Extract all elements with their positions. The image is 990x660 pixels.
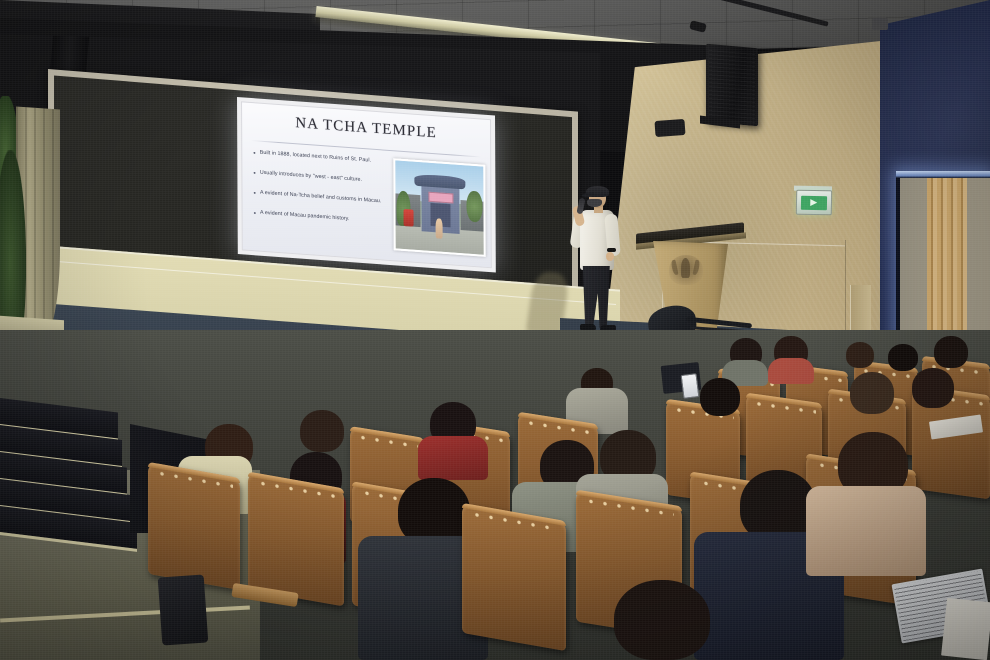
bullet-text: Usually introduces by "west - east" cult… [260,169,362,187]
presenter-right-hand [606,252,614,261]
table-row[interactable] [148,462,240,590]
photo-tree-right [467,190,483,223]
table-row[interactable] [462,503,566,651]
audience-head [700,378,740,416]
projected-slide: NA TCHA TEMPLE • Built in 1888, located … [237,97,496,273]
foliage-lower [0,150,26,340]
bullet-marker-icon: • [253,168,256,179]
list-item: • A evident of Na-Tcha belief and custom… [253,188,393,209]
audience-head [888,344,918,371]
phone-device[interactable] [681,373,700,399]
slide-bullet-list: • Built in 1888, located next to Ruins o… [253,148,393,238]
audience-head [300,410,344,452]
speaker-grille [709,47,755,123]
presenter-wristwatch [607,248,616,252]
speaker-wall-mount [654,119,685,137]
photo-temple-plaque [429,192,454,204]
exit-arrow-icon: ▶ [810,198,818,207]
list-item: • Usually introduces by "west - east" cu… [253,168,393,189]
audience-head [912,368,954,408]
list-item: • A evident of Macau pandemic history. [254,208,394,229]
audience-body [768,358,814,384]
lectern-emblem-figure [681,258,690,278]
table-row[interactable] [248,472,344,607]
floor-bag [158,574,209,645]
presenter-face-mask [587,199,602,207]
lecture-hall-photo: ▶ NA TCHA TEMPLE • Built in 1888, locate… [0,0,990,660]
audience-head [850,372,894,414]
audience-head [614,580,710,660]
security-camera-icon [872,18,888,30]
niche-panel [900,178,990,333]
bullet-text: A evident of Macau pandemic history. [260,209,350,226]
ceiling-speaker [706,44,758,127]
bullet-marker-icon: • [253,188,256,199]
audience-head [934,336,968,368]
backlit-wall-niche [896,171,990,340]
exit-sign-panel: ▶ [801,195,827,209]
papers [941,598,990,660]
photo-red-object [403,208,414,226]
bullet-text: A evident of Na-Tcha belief and customs … [260,189,381,209]
photo-visitor [435,219,442,239]
niche-wood-slats [927,178,967,333]
audience-head [846,342,874,368]
slide-photo-temple [393,158,485,257]
exit-sign: ▶ [796,190,832,216]
audience-body [806,486,926,576]
bullet-marker-icon: • [253,148,256,159]
bullet-marker-icon: • [254,208,257,219]
niche-glow-top [896,171,990,178]
audience-body [418,436,488,480]
